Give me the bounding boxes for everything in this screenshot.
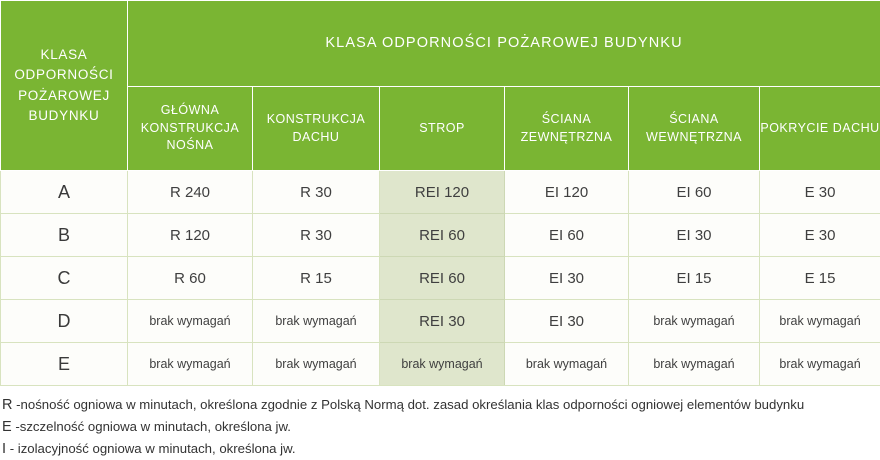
cell-glowna-konstrukcja-nosna: brak wymagań: [128, 300, 253, 343]
cell-sciana-wewnetrzna: EI 30: [629, 214, 760, 257]
row-class-label: D: [1, 300, 128, 343]
column-header-glowna-konstrukcja-nosna: GŁÓWNA KONSTRUKCJA NOŚNA: [128, 87, 253, 171]
cell-pokrycie-dachu: E 30: [760, 171, 880, 214]
cell-strop: REI 60: [380, 214, 505, 257]
cell-konstrukcja-dachu: brak wymagań: [253, 300, 380, 343]
cell-konstrukcja-dachu: R 15: [253, 257, 380, 300]
footnote-e: E -szczelność ogniowa w minutach, określ…: [2, 416, 880, 438]
cell-konstrukcja-dachu: R 30: [253, 171, 380, 214]
cell-konstrukcja-dachu: R 30: [253, 214, 380, 257]
footnote-r: R -nośność ogniowa w minutach, określona…: [2, 394, 880, 416]
cell-pokrycie-dachu: E 30: [760, 214, 880, 257]
cell-sciana-zewnetrzna: EI 120: [505, 171, 629, 214]
footnote-e-key: E: [2, 419, 12, 435]
fire-resistance-class-table-sheet: KLASA ODPORNOŚCI POŻAROWEJ BUDYNKU KLASA…: [0, 0, 880, 443]
table-header-row-sub: GŁÓWNA KONSTRUKCJA NOŚNA KONSTRUKCJA DAC…: [1, 87, 880, 171]
cell-pokrycie-dachu: E 15: [760, 257, 880, 300]
footnote-i-text: - izolacyjność ogniowa w minutach, okreś…: [10, 441, 296, 456]
cell-sciana-zewnetrzna: EI 30: [505, 257, 629, 300]
row-class-label: C: [1, 257, 128, 300]
table-footnotes: R -nośność ogniowa w minutach, określona…: [0, 386, 880, 460]
group-header-cell: KLASA ODPORNOŚCI POŻAROWEJ BUDYNKU: [128, 1, 880, 87]
cell-strop: REI 60: [380, 257, 505, 300]
column-header-pokrycie-dachu: POKRYCIE DACHU: [760, 87, 880, 171]
cell-pokrycie-dachu: brak wymagań: [760, 300, 880, 343]
row-class-label: A: [1, 171, 128, 214]
row-class-label: E: [1, 343, 128, 386]
cell-sciana-wewnetrzna: EI 15: [629, 257, 760, 300]
table-header-row-top: KLASA ODPORNOŚCI POŻAROWEJ BUDYNKU KLASA…: [1, 1, 880, 87]
cell-sciana-wewnetrzna: brak wymagań: [629, 343, 760, 386]
cell-strop: REI 30: [380, 300, 505, 343]
column-header-strop: STROP: [380, 87, 505, 171]
cell-sciana-zewnetrzna: EI 60: [505, 214, 629, 257]
table-row: D brak wymagań brak wymagań REI 30 EI 30…: [1, 300, 880, 343]
row-class-label: B: [1, 214, 128, 257]
fire-resistance-table: KLASA ODPORNOŚCI POŻAROWEJ BUDYNKU KLASA…: [0, 0, 880, 386]
corner-header-cell: KLASA ODPORNOŚCI POŻAROWEJ BUDYNKU: [1, 1, 128, 171]
column-header-sciana-zewnetrzna: ŚCIANA ZEWNĘTRZNA: [505, 87, 629, 171]
cell-glowna-konstrukcja-nosna: R 60: [128, 257, 253, 300]
table-row: C R 60 R 15 REI 60 EI 30 EI 15 E 15: [1, 257, 880, 300]
footnote-i-key: I: [2, 441, 6, 457]
cell-konstrukcja-dachu: brak wymagań: [253, 343, 380, 386]
footnote-r-text: -nośność ogniowa w minutach, określona z…: [16, 397, 804, 412]
footnote-r-key: R: [2, 397, 12, 413]
cell-strop: REI 120: [380, 171, 505, 214]
table-row: E brak wymagań brak wymagań brak wymagań…: [1, 343, 880, 386]
cell-sciana-wewnetrzna: EI 60: [629, 171, 760, 214]
column-header-konstrukcja-dachu: KONSTRUKCJA DACHU: [253, 87, 380, 171]
cell-glowna-konstrukcja-nosna: R 240: [128, 171, 253, 214]
cell-strop: brak wymagań: [380, 343, 505, 386]
footnote-e-text: -szczelność ogniowa w minutach, określon…: [15, 419, 291, 434]
cell-glowna-konstrukcja-nosna: R 120: [128, 214, 253, 257]
table-row: A R 240 R 30 REI 120 EI 120 EI 60 E 30: [1, 171, 880, 214]
cell-sciana-zewnetrzna: EI 30: [505, 300, 629, 343]
cell-sciana-wewnetrzna: brak wymagań: [629, 300, 760, 343]
footnote-i: I - izolacyjność ogniowa w minutach, okr…: [2, 438, 880, 460]
cell-pokrycie-dachu: brak wymagań: [760, 343, 880, 386]
table-row: B R 120 R 30 REI 60 EI 60 EI 30 E 30: [1, 214, 880, 257]
cell-sciana-zewnetrzna: brak wymagań: [505, 343, 629, 386]
cell-glowna-konstrukcja-nosna: brak wymagań: [128, 343, 253, 386]
column-header-sciana-wewnetrzna: ŚCIANA WEWNĘTRZNA: [629, 87, 760, 171]
